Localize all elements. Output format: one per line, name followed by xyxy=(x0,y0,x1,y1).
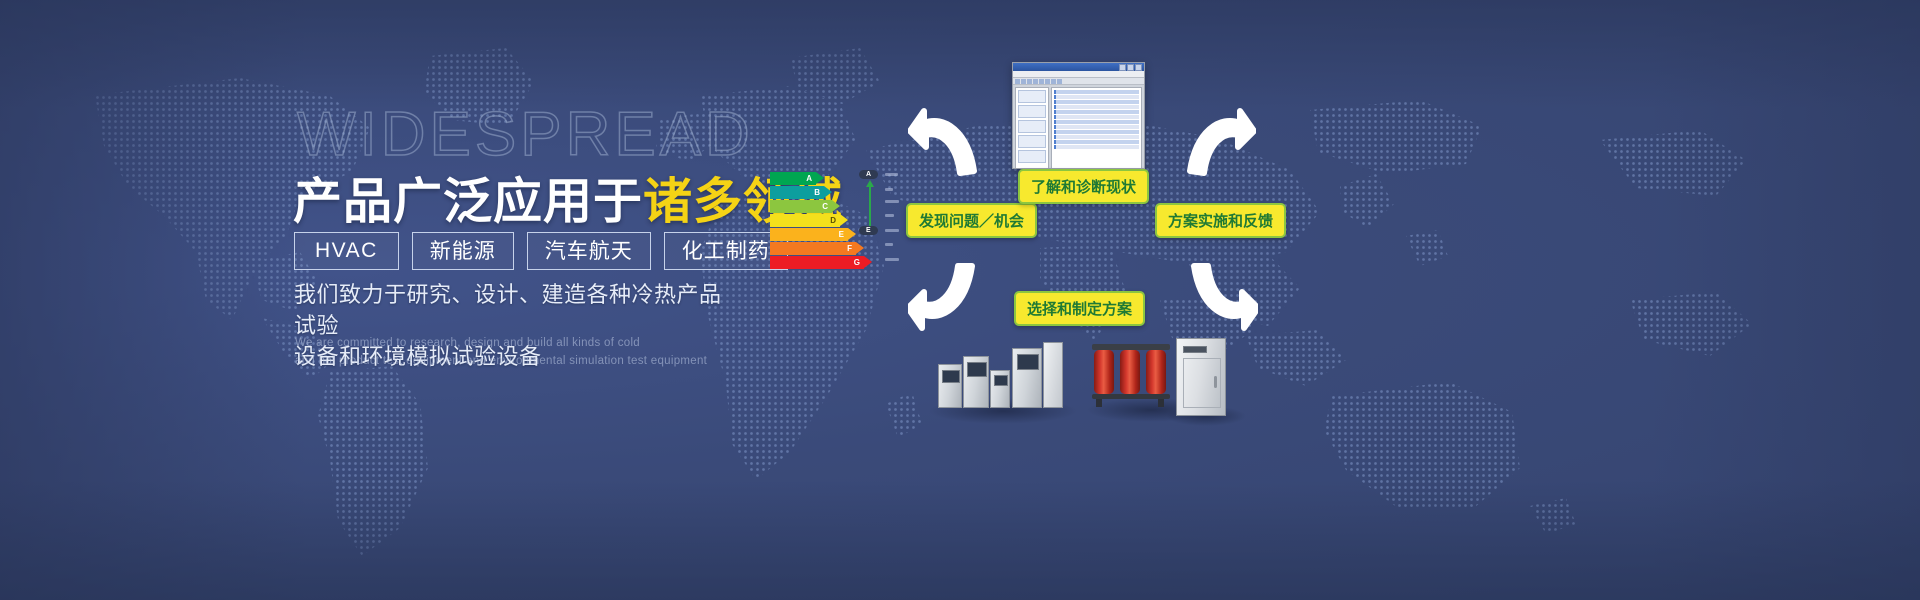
curved-arrow-up-left-icon xyxy=(908,105,984,177)
energy-bar-g: G xyxy=(770,256,864,269)
close-icon xyxy=(1135,64,1142,71)
curved-arrow-up-icon xyxy=(1182,262,1258,334)
energy-bar-c: C xyxy=(770,200,832,213)
callout-implement[interactable]: 方案实施和反馈 xyxy=(1155,203,1286,238)
description-cn-line1: 我们致力于研究、设计、建造各种冷热产品试验 xyxy=(294,280,734,342)
hero-banner: WIDESPREAD 产品广泛应用于诸多领域 HVAC 新能源 汽车航天 化工制… xyxy=(0,0,1920,600)
energy-bar-a: A xyxy=(770,172,816,185)
sidebar-block xyxy=(1018,90,1046,103)
content-row xyxy=(1054,140,1139,144)
energy-scale-tick xyxy=(885,258,899,261)
sidebar-block xyxy=(1018,135,1046,148)
description-en: We are committed to research, design and… xyxy=(295,335,715,371)
sidebar-block xyxy=(1018,105,1046,118)
energy-bar-b: B xyxy=(770,186,824,199)
ghost-headline: WIDESPREAD xyxy=(297,104,754,166)
toolbar-icon xyxy=(1021,79,1026,84)
toolbar-icon xyxy=(1045,79,1050,84)
energy-bar-b-grade: B xyxy=(814,188,820,197)
energy-scale-arrow-icon xyxy=(869,186,871,230)
screenshot-titlebar xyxy=(1013,63,1144,71)
product-photo-tall-cabinet xyxy=(1176,338,1226,416)
content-row xyxy=(1054,135,1139,139)
energy-bar-a-grade: A xyxy=(806,174,812,183)
sidebar-block xyxy=(1018,120,1046,133)
energy-scale-indicator: A E xyxy=(855,170,895,270)
industry-tag-list: HVAC 新能源 汽车航天 化工制药 xyxy=(294,232,788,270)
content-row xyxy=(1054,145,1139,149)
toolbar-icon xyxy=(1027,79,1032,84)
description-en-line1: We are committed to research, design and… xyxy=(295,335,715,353)
content-row xyxy=(1054,105,1139,109)
tag-automotive-aerospace[interactable]: 汽车航天 xyxy=(527,232,651,270)
toolbar-icon xyxy=(1033,79,1038,84)
content-row xyxy=(1054,125,1139,129)
content-row xyxy=(1054,120,1139,124)
energy-bar-e-grade: E xyxy=(839,230,844,239)
sidebar-block xyxy=(1018,150,1046,163)
headline-white-part: 产品广泛应用于 xyxy=(293,173,643,230)
toolbar-icon xyxy=(1051,79,1056,84)
energy-bar-f-grade: F xyxy=(847,244,852,253)
toolbar-icon xyxy=(1057,79,1062,84)
energy-scale-chip-top: A xyxy=(859,170,878,179)
page-title: 产品广泛应用于诸多领域 xyxy=(293,176,843,227)
content-row xyxy=(1054,90,1139,94)
maximize-icon xyxy=(1127,64,1134,71)
energy-bar-d-grade: D xyxy=(830,216,836,225)
product-photo-test-chambers xyxy=(938,340,1063,410)
screenshot-sidebar xyxy=(1015,87,1049,169)
curved-arrow-up-right-icon xyxy=(1180,105,1256,177)
energy-scale-tick xyxy=(885,188,893,191)
content-row xyxy=(1054,130,1139,134)
energy-scale-tick xyxy=(885,173,898,176)
energy-scale-tick xyxy=(885,229,899,232)
software-screenshot xyxy=(1012,62,1145,169)
product-photo-cylinder-rack xyxy=(1092,344,1170,410)
energy-scale-chip-bottom: E xyxy=(859,226,878,235)
description-en-line2: and hot product test equipment and envir… xyxy=(295,353,715,371)
callout-select[interactable]: 选择和制定方案 xyxy=(1014,291,1145,326)
screenshot-toolbar xyxy=(1013,78,1144,85)
minimize-icon xyxy=(1119,64,1126,71)
screenshot-content xyxy=(1051,87,1142,169)
tag-hvac[interactable]: HVAC xyxy=(294,232,399,270)
callout-understand[interactable]: 了解和诊断现状 xyxy=(1018,169,1149,204)
tag-new-energy[interactable]: 新能源 xyxy=(412,232,514,270)
screenshot-body xyxy=(1013,85,1144,169)
content-row xyxy=(1054,95,1139,99)
content-row xyxy=(1054,110,1139,114)
energy-bar-c-grade: C xyxy=(822,202,828,211)
energy-bar-e: E xyxy=(770,228,848,241)
content-row xyxy=(1054,100,1139,104)
energy-bar-d: D xyxy=(770,214,840,227)
content-row xyxy=(1054,115,1139,119)
energy-scale-tick xyxy=(885,243,893,246)
toolbar-icon xyxy=(1015,79,1020,84)
energy-scale-tick xyxy=(885,200,899,203)
callout-discover[interactable]: 发现问题／机会 xyxy=(906,203,1037,238)
toolbar-icon xyxy=(1039,79,1044,84)
energy-bar-f: F xyxy=(770,242,856,255)
screenshot-menubar xyxy=(1013,71,1144,78)
curved-arrow-down-left-icon xyxy=(908,262,984,334)
energy-scale-tick xyxy=(885,214,894,217)
